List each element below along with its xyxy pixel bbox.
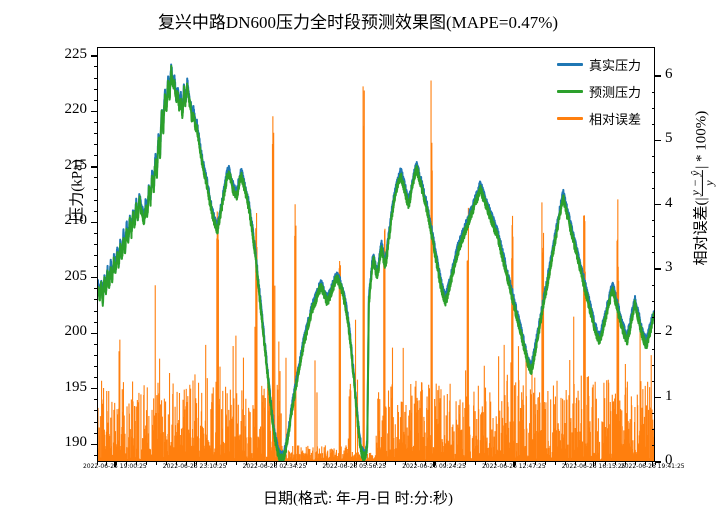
y-axis-right-tick-label: 1 (665, 388, 673, 405)
y-axis-left-minor-tick (94, 410, 98, 411)
y-axis-left-minor-tick (94, 355, 98, 356)
legend-label-relative-error: 相对误差 (589, 109, 641, 128)
y-axis-left-minor-tick (94, 177, 98, 178)
y-axis-right-tick-label: 5 (665, 130, 673, 147)
y-axis-right-minor-tick (652, 445, 656, 446)
x-axis-minor-tick (316, 462, 317, 465)
y-axis-left-tick (91, 444, 97, 445)
legend-label-true-pressure: 真实压力 (589, 55, 641, 74)
y-axis-right-minor-tick (652, 236, 656, 237)
chart-legend: 真实压力 预测压力 相对误差 (554, 53, 644, 130)
y-axis-left-minor-tick (94, 299, 98, 300)
y-axis-right-minor-tick (652, 285, 656, 286)
x-axis-tick-label: 2022-06-26 16:15:25 (562, 463, 626, 470)
y-axis-left-minor-tick (94, 422, 98, 423)
y-axis-left-minor-tick (94, 255, 98, 256)
y-axis-left-minor-tick (94, 66, 98, 67)
y-axis-left-label: 压力(kPa) (66, 111, 87, 271)
y-axis-left-minor-tick (94, 155, 98, 156)
y-axis-right-minor-tick (652, 172, 656, 173)
y-axis-left-tick (91, 222, 97, 223)
y-axis-left-minor-tick (94, 122, 98, 123)
y-axis-right-tick (655, 204, 661, 205)
y-axis-left-tick (91, 333, 97, 334)
x-axis-minor-tick (395, 462, 396, 465)
y-axis-right-tick (655, 333, 661, 334)
fraction-denominator: y (703, 170, 716, 197)
y-axis-left-tick-label: 205 (0, 268, 87, 285)
y-axis-left-tick (91, 388, 97, 389)
y-axis-left-minor-tick (94, 433, 98, 434)
legend-label-predicted-pressure: 预测压力 (589, 82, 641, 101)
x-axis-tick-label: 2022-06-26 09:24:25 (402, 463, 466, 470)
chart-figure: 复兴中路DN600压力全时段预测效果图(MAPE=0.47%) 压力(kPa) … (0, 0, 716, 520)
y-axis-left-minor-tick (94, 399, 98, 400)
y-axis-left-tick-label: 190 (0, 434, 87, 451)
y-axis-right-minor-tick (652, 365, 656, 366)
y-axis-right-tick (655, 140, 661, 141)
y-axis-right-label: 相对误差(|y − ŷy| * 100%) (689, 93, 715, 283)
y-axis-left-tick-label: 195 (0, 379, 87, 396)
y-axis-right-tick-label: 6 (665, 66, 673, 83)
y-axis-left-tick-label: 210 (0, 212, 87, 229)
y-axis-left-tick (91, 166, 97, 167)
x-axis-tick-label: 2022-06-25 19:00:25 (83, 463, 147, 470)
y-axis-right-minor-tick (652, 349, 656, 350)
legend-item-predicted-pressure: 预测压力 (557, 82, 641, 101)
y-axis-right-tick-label: 4 (665, 195, 673, 212)
y-axis-left-minor-tick (94, 100, 98, 101)
y-axis-left-minor-tick (94, 266, 98, 267)
y-axis-right-minor-tick (652, 317, 656, 318)
chart-title: 复兴中路DN600压力全时段预测效果图(MAPE=0.47%) (0, 8, 716, 33)
y-axis-left-minor-tick (94, 233, 98, 234)
y-axis-left-minor-tick (94, 133, 98, 134)
x-axis-tick-label: 2022-06-25 23:10:25 (163, 463, 227, 470)
y-axis-left-tick (91, 111, 97, 112)
y-axis-left-minor-tick (94, 455, 98, 456)
x-axis-tick-label: 2022-06-26 19:41:25 (621, 463, 685, 470)
y-axis-left-minor-tick (94, 311, 98, 312)
y-axis-right-minor-tick (652, 92, 656, 93)
y-axis-right-minor-tick (652, 188, 656, 189)
y-axis-left-minor-tick (94, 78, 98, 79)
y-axis-right-tick-label: 3 (665, 259, 673, 276)
legend-item-true-pressure: 真实压力 (557, 55, 641, 74)
x-axis-tick-label: 2022-06-26 12:47:25 (482, 463, 546, 470)
y-axis-left-tick-label: 225 (0, 46, 87, 63)
y-axis-left-minor-tick (94, 189, 98, 190)
y-axis-left-minor-tick (94, 244, 98, 245)
y-axis-left-minor-tick (94, 322, 98, 323)
x-axis-tick-label: 2022-06-26 05:56:25 (322, 463, 386, 470)
y-axis-left-minor-tick (94, 288, 98, 289)
y-axis-left-minor-tick (94, 344, 98, 345)
y-axis-left-minor-tick (94, 366, 98, 367)
x-axis-minor-tick (236, 462, 237, 465)
y-axis-right-minor-tick (652, 124, 656, 125)
x-axis-minor-tick (156, 462, 157, 465)
y-axis-left-minor-tick (94, 200, 98, 201)
y-axis-right-minor-tick (652, 381, 656, 382)
y-axis-right-tick (655, 397, 661, 398)
x-axis-minor-tick (475, 462, 476, 465)
y-axis-right-minor-tick (652, 429, 656, 430)
y-axis-right-label-prefix: 相对误差(| (693, 197, 709, 265)
x-axis-minor-tick (555, 462, 556, 465)
y-axis-right-tick (655, 268, 661, 269)
legend-swatch-predicted-pressure (557, 90, 583, 93)
fraction-numerator: y − ŷ (689, 170, 703, 197)
y-axis-right-tick (655, 75, 661, 76)
y-axis-left-tick-label: 200 (0, 323, 87, 340)
legend-swatch-relative-error (557, 117, 583, 120)
y-axis-right-minor-tick (652, 252, 656, 253)
y-axis-right-minor-tick (652, 301, 656, 302)
y-axis-left-tick-label: 220 (0, 101, 87, 118)
y-axis-right-minor-tick (652, 108, 656, 109)
legend-swatch-true-pressure (557, 63, 583, 66)
y-axis-left-tick (91, 277, 97, 278)
y-axis-right-label-suffix: | * 100%) (693, 111, 709, 169)
y-axis-left-minor-tick (94, 211, 98, 212)
y-axis-right-tick-label: 2 (665, 323, 673, 340)
y-axis-left-minor-tick (94, 144, 98, 145)
legend-item-relative-error: 相对误差 (557, 109, 641, 128)
x-axis-label: 日期(格式: 年-月-日 时:分:秒) (0, 487, 716, 508)
y-axis-left-minor-tick (94, 377, 98, 378)
y-axis-left-tick-label: 215 (0, 157, 87, 174)
y-axis-right-minor-tick (652, 413, 656, 414)
relative-error-fraction: y − ŷy (689, 170, 715, 197)
y-axis-left-tick (91, 55, 97, 56)
x-axis-tick-label: 2022-06-26 02:34:25 (243, 463, 307, 470)
y-axis-left-minor-tick (94, 89, 98, 90)
y-axis-right-minor-tick (652, 156, 656, 157)
y-axis-right-minor-tick (652, 220, 656, 221)
